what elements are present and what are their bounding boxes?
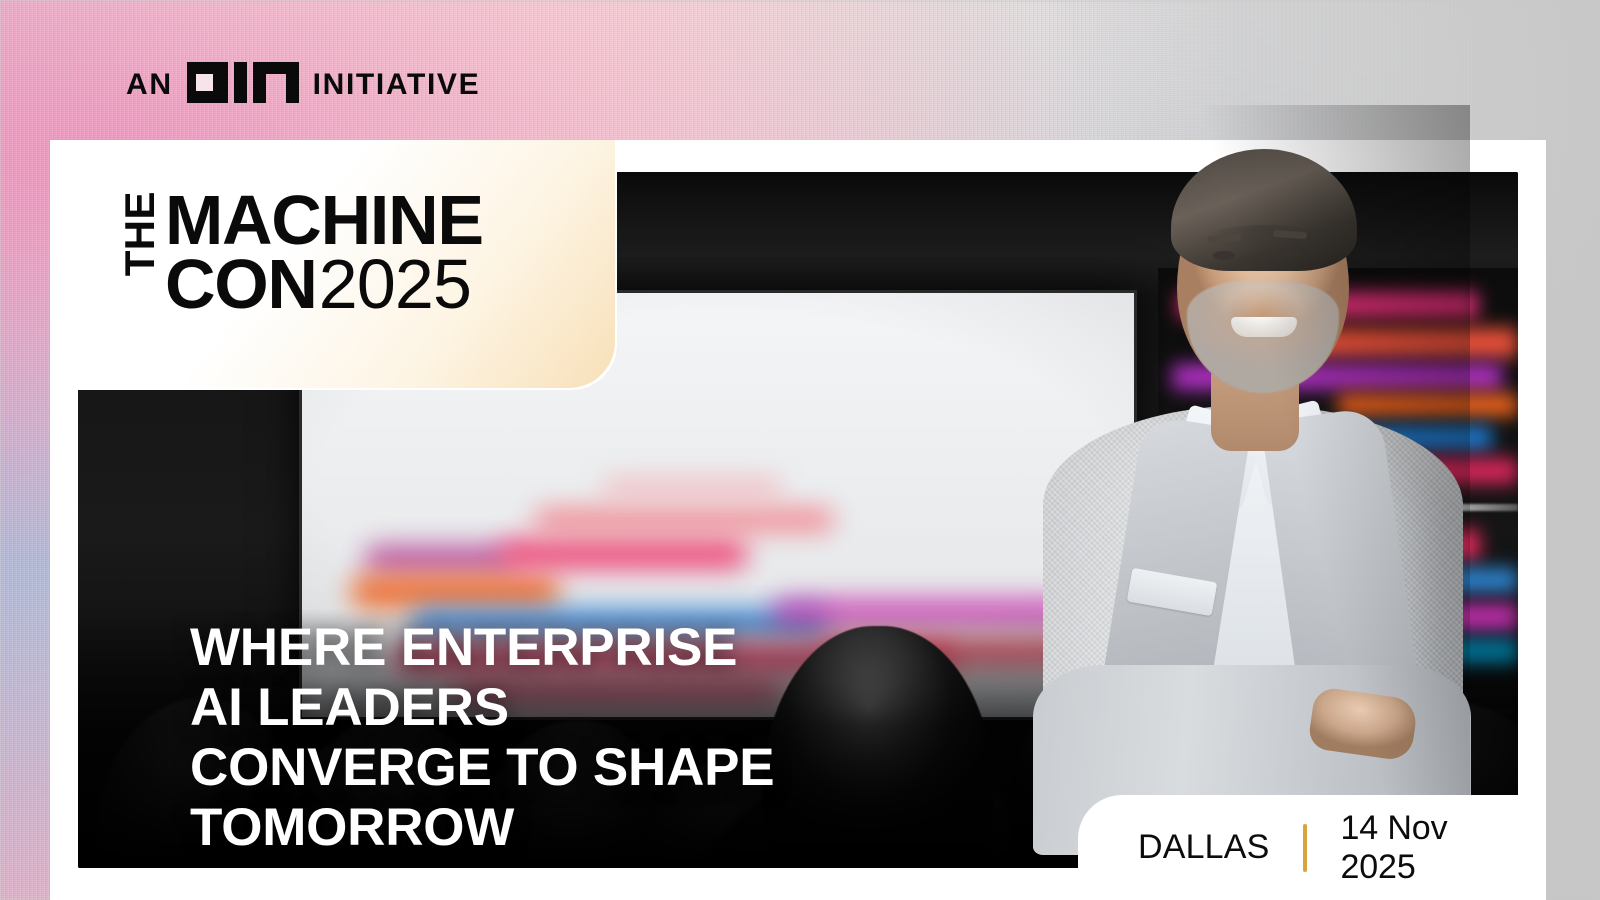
event-date: 14 Nov 2025 xyxy=(1341,809,1488,887)
aim-initiative-strapline: AN INITIATIVE xyxy=(126,62,480,108)
pill-divider xyxy=(1303,824,1306,872)
logo-word-the: THE xyxy=(122,191,159,276)
speaker-eye-right xyxy=(1279,248,1301,257)
event-logo-panel: THE MACHINE CON 2025 xyxy=(50,140,615,388)
speaker-hair-shadow xyxy=(1185,225,1345,279)
logo-word-con: CON xyxy=(165,252,317,316)
strapline-suffix: INITIATIVE xyxy=(313,70,481,100)
logo-word-year: 2025 xyxy=(319,252,471,316)
poster-card: THE MACHINE CON 2025 WHERE ENTERPRISE AI… xyxy=(50,140,1546,900)
speaker-portrait xyxy=(1025,105,1470,847)
logo-line-con-year: CON 2025 xyxy=(165,252,483,316)
event-poster: AN INITIATIVE xyxy=(0,0,1600,900)
strapline-prefix: AN xyxy=(126,70,173,100)
headline: WHERE ENTERPRISE AI LEADERS CONVERGE TO … xyxy=(190,618,774,859)
logo-word-machine: MACHINE xyxy=(165,188,483,252)
location-date-pill: DALLAS 14 Nov 2025 xyxy=(1078,795,1518,900)
event-city: DALLAS xyxy=(1138,828,1269,867)
headline-line-4: TOMORROW xyxy=(190,798,774,858)
headline-line-2: AI LEADERS xyxy=(190,678,774,738)
event-logo-lockup: THE MACHINE CON 2025 xyxy=(122,188,483,317)
speaker-beard xyxy=(1187,281,1339,393)
logo-lines: MACHINE CON 2025 xyxy=(165,188,483,317)
speaker-hand-left xyxy=(1122,700,1220,767)
headline-line-3: CONVERGE TO SHAPE xyxy=(190,738,774,798)
aim-logo-icon xyxy=(187,62,299,108)
speaker-eye-left xyxy=(1213,251,1235,260)
headline-line-1: WHERE ENTERPRISE xyxy=(190,618,774,678)
